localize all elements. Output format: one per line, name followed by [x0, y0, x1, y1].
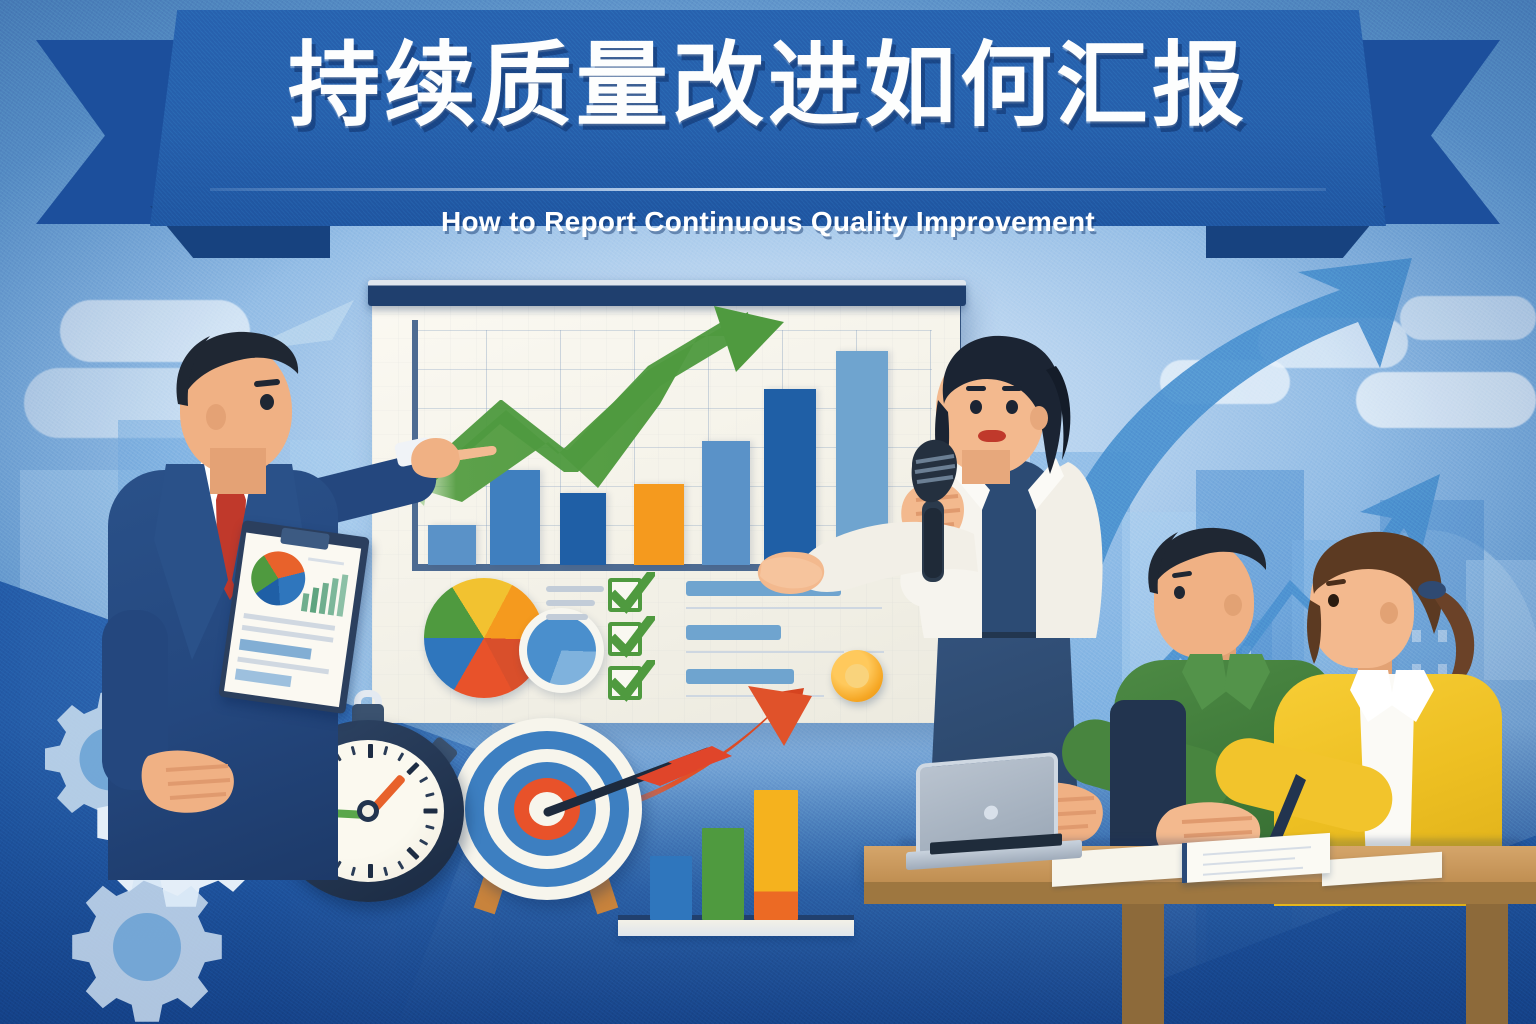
speaker-eye-right	[1006, 400, 1018, 414]
checkbox-item-1[interactable]	[608, 578, 642, 612]
speaker-eye-left	[970, 400, 982, 414]
presenter-holding-hand	[138, 744, 248, 840]
laptop-logo	[984, 805, 998, 820]
mini-bar-1	[650, 856, 692, 920]
speaker-eyebrow-left	[966, 386, 986, 391]
checklist-text-bar-3	[686, 669, 794, 684]
clipboard-bar-chart	[301, 565, 351, 617]
presenter-ear	[206, 404, 226, 430]
audience-man-hair	[1140, 524, 1276, 634]
speaker-eyebrow-right	[1002, 386, 1022, 391]
clipboard-report	[218, 520, 370, 714]
poster-canvas: 持续质量改进如何汇报 How to Report Continuous Qual…	[0, 0, 1536, 1024]
title-ribbon: 持续质量改进如何汇报 How to Report Continuous Qual…	[0, 10, 1536, 258]
presenter-hair	[166, 326, 306, 436]
presenter-neck	[210, 448, 266, 494]
desk-edge	[864, 882, 1536, 904]
chart-legend-lines	[546, 586, 604, 628]
audience-man-eye	[1174, 586, 1185, 599]
audience-woman-ear	[1380, 602, 1398, 624]
checklist-text-line-2	[686, 651, 844, 653]
audience-man-ear	[1224, 594, 1242, 616]
page-title-chinese: 持续质量改进如何汇报	[0, 38, 1536, 134]
desk-leg-left	[1122, 904, 1164, 1024]
presenter-eye	[260, 394, 274, 410]
audience-woman-eye	[1328, 594, 1339, 607]
speaker-mouth	[978, 430, 1006, 442]
page-subtitle-english: How to Report Continuous Quality Improve…	[0, 206, 1536, 238]
speaker-ear	[1030, 406, 1048, 430]
presenter-pointing-hand	[406, 424, 500, 496]
gear-icon-bottom	[62, 862, 232, 1024]
desk-leg-right	[1466, 904, 1508, 1024]
target-arrow	[540, 744, 740, 864]
checkbox-item-2[interactable]	[608, 622, 642, 656]
title-divider	[210, 188, 1326, 191]
microphone-icon	[894, 438, 974, 588]
